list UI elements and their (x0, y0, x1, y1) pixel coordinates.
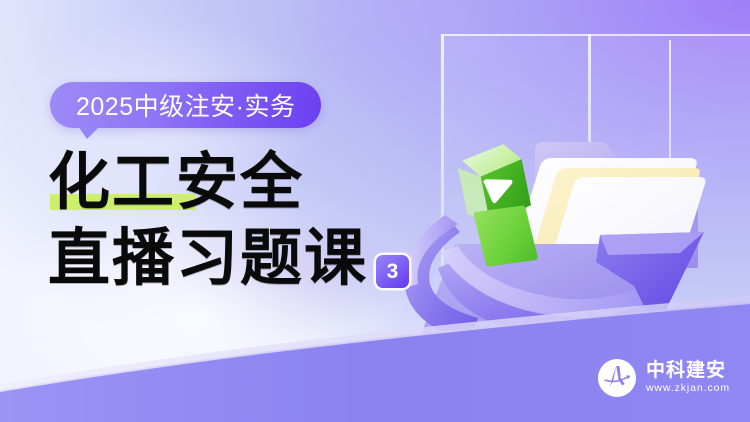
headline-row-1: 化工安全 (48, 152, 468, 214)
brand-url: www.zkjan.com (646, 382, 730, 396)
brand-logo: 中科建安 www.zkjan.com (597, 358, 730, 398)
course-category-badge: 2025中级注安·实务 (50, 82, 321, 128)
brand-logo-text: 中科建安 www.zkjan.com (646, 360, 730, 396)
badge-tail (78, 126, 100, 139)
zkjan-circle-logo-icon (597, 358, 637, 398)
headline-line-2: 直播习题课 (48, 228, 368, 290)
headline-row-2: 直播习题课3 (48, 228, 468, 294)
episode-number-badge: 3 (376, 255, 409, 288)
badge-pill: 2025中级注安·实务 (50, 82, 321, 128)
course-promo-banner: 2025中级注安·实务 化工安全 直播习题课3 中科建安 www.zkjan.c… (0, 0, 750, 422)
headline-line-1: 化工安全 (48, 152, 304, 214)
headline-block: 化工安全 直播习题课3 (48, 152, 468, 294)
badge-label: 2025中级注安·实务 (76, 87, 295, 123)
brand-name: 中科建安 (646, 360, 730, 381)
